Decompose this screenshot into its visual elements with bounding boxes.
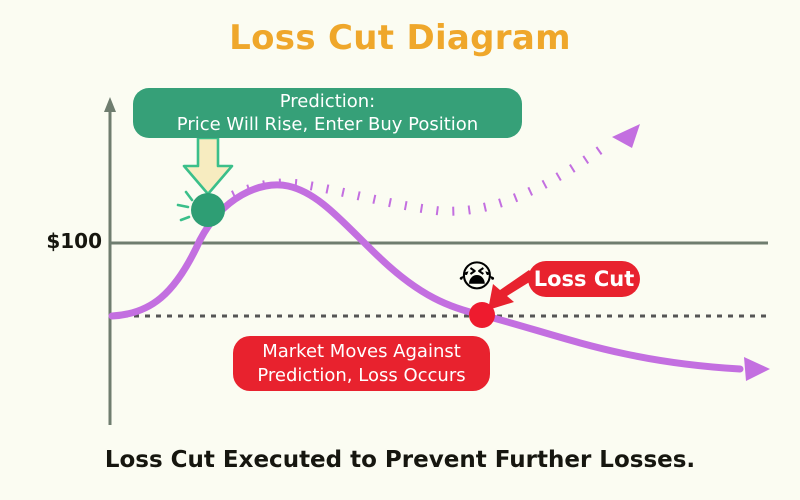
down-arrow-icon [184,138,232,194]
arrow-icon [612,124,640,148]
prediction-banner-line2: Price Will Rise, Enter Buy Position [177,113,478,136]
prediction-banner: Prediction: Price Will Rise, Enter Buy P… [133,88,522,138]
crying-face-icon: 😭 [458,257,496,295]
loss-cut-badge-label: Loss Cut [534,267,635,291]
loss-banner: Market Moves Against Prediction, Loss Oc… [233,336,490,391]
chart-graphics [0,0,800,500]
loss-banner-line1: Market Moves Against [262,340,461,363]
entry-point-marker[interactable] [191,193,225,227]
loss-cut-marker[interactable] [469,302,495,328]
up-arrow-icon [104,97,116,112]
arrow-icon [744,357,770,381]
footer-caption: Loss Cut Executed to Prevent Further Los… [0,447,800,473]
diagram-canvas: Loss Cut Diagram [0,0,800,500]
prediction-banner-line1: Prediction: [280,90,375,113]
loss-cut-badge[interactable]: Loss Cut [528,261,640,297]
loss-banner-line2: Prediction, Loss Occurs [257,364,465,387]
price-axis-label: $100 [40,229,102,253]
y-axis [104,97,116,425]
sparkle-icon [178,192,192,220]
